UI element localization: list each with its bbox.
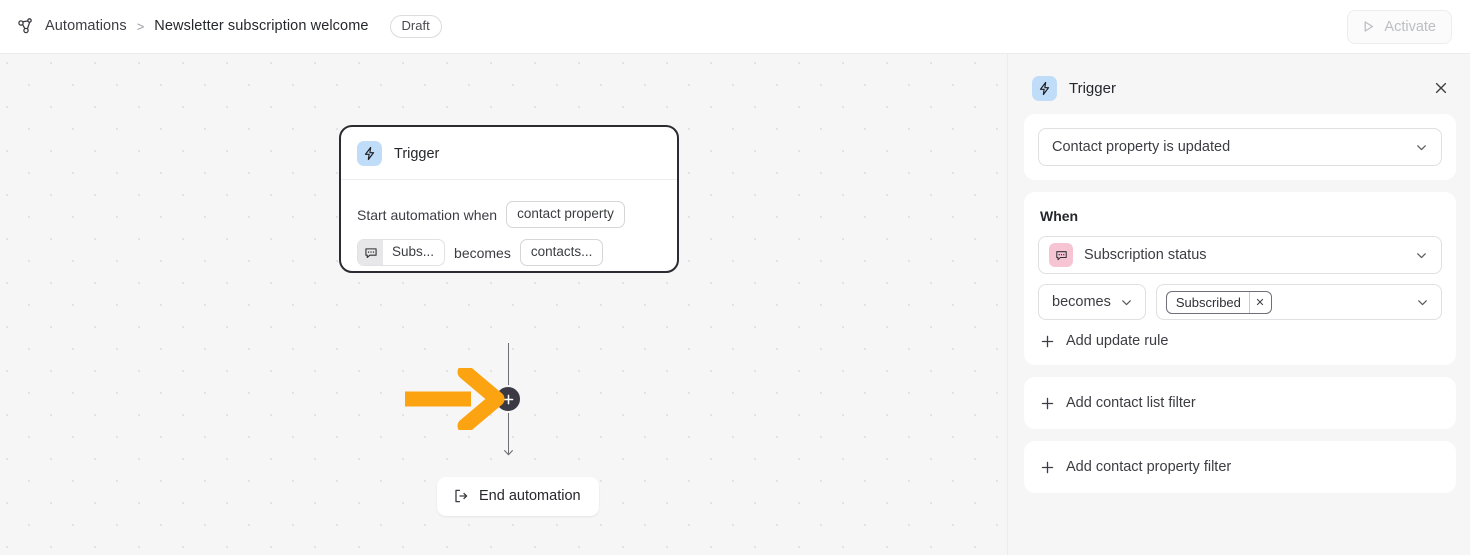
panel-title: Trigger <box>1069 80 1116 97</box>
automation-builder: Automations > Newsletter subscription we… <box>0 0 1470 555</box>
trigger-sentence-prefix: Start automation when <box>357 207 497 223</box>
add-contact-list-filter-button[interactable]: Add contact list filter <box>1024 377 1456 429</box>
lightning-bolt-icon <box>357 141 382 166</box>
remove-token-button[interactable] <box>1249 292 1271 313</box>
trigger-sentence-row-1: Start automation when contact property <box>357 201 661 228</box>
when-card: When Subscription status <box>1024 192 1456 365</box>
lightning-bolt-icon <box>1032 76 1057 101</box>
activate-button-label: Activate <box>1384 19 1436 35</box>
plus-icon <box>502 393 515 406</box>
speech-bubble-icon <box>1049 243 1073 267</box>
close-icon <box>1433 80 1449 96</box>
add-contact-property-filter-card[interactable]: Add contact property filter <box>1024 441 1456 493</box>
end-automation-node[interactable]: End automation <box>437 477 599 516</box>
top-bar: Automations > Newsletter subscription we… <box>0 0 1470 54</box>
play-icon <box>1361 19 1376 34</box>
close-panel-button[interactable] <box>1428 75 1454 101</box>
when-property-value: Subscription status <box>1084 247 1403 263</box>
breadcrumb-separator: > <box>136 19 146 34</box>
trigger-property-chip[interactable]: Subs... <box>357 239 445 266</box>
add-contact-list-filter-card[interactable]: Add contact list filter <box>1024 377 1456 429</box>
breadcrumb: Automations > Newsletter subscription we… <box>16 15 442 38</box>
speech-bubble-icon <box>358 240 383 265</box>
trigger-settings-panel: Trigger Contact property is updated <box>1008 54 1470 555</box>
when-operator-select[interactable]: becomes <box>1038 284 1146 320</box>
add-update-rule-label: Add update rule <box>1066 333 1168 349</box>
add-step-button[interactable] <box>494 385 522 413</box>
trigger-node-title: Trigger <box>394 146 439 162</box>
trigger-sentence-row-2: Subs... becomes contacts... <box>357 239 661 266</box>
trigger-type-value: Contact property is updated <box>1052 139 1414 155</box>
chevron-down-icon <box>1414 248 1429 263</box>
close-icon <box>1255 297 1265 307</box>
add-contact-property-filter-label: Add contact property filter <box>1066 459 1231 475</box>
trigger-node-body: Start automation when contact property <box>357 180 661 266</box>
trigger-event-chip[interactable]: contact property <box>506 201 625 228</box>
trigger-node-header: Trigger <box>357 141 661 179</box>
trigger-operator-text: becomes <box>454 245 511 261</box>
trigger-node[interactable]: Trigger Start automation when contact pr… <box>339 125 679 273</box>
trigger-type-card: Contact property is updated <box>1024 114 1456 180</box>
flow-connector-arrowhead <box>503 446 514 456</box>
add-contact-property-filter-button[interactable]: Add contact property filter <box>1024 441 1456 493</box>
exit-icon <box>453 488 469 504</box>
breadcrumb-automations-link[interactable]: Automations <box>45 18 127 34</box>
value-token: Subscribed <box>1166 291 1272 314</box>
status-badge: Draft <box>390 15 442 38</box>
add-contact-list-filter-label: Add contact list filter <box>1066 395 1196 411</box>
when-rule-row: becomes Subscribed <box>1038 284 1442 320</box>
canvas-panel-divider <box>1007 54 1008 555</box>
workspace: Trigger Start automation when contact pr… <box>0 54 1470 555</box>
automations-graph-icon <box>16 16 36 36</box>
add-update-rule-button[interactable]: Add update rule <box>1038 320 1442 351</box>
plus-icon <box>1040 460 1055 475</box>
plus-icon <box>1040 334 1055 349</box>
chevron-down-icon <box>1119 295 1134 310</box>
chevron-down-icon <box>1415 295 1430 310</box>
when-operator-value: becomes <box>1052 294 1111 310</box>
when-property-select[interactable]: Subscription status <box>1038 236 1442 274</box>
when-values-select[interactable]: Subscribed <box>1156 284 1442 320</box>
flow-canvas[interactable]: Trigger Start automation when contact pr… <box>0 54 1008 555</box>
trigger-type-select[interactable]: Contact property is updated <box>1038 128 1442 166</box>
activate-button[interactable]: Activate <box>1347 10 1452 44</box>
plus-icon <box>1040 396 1055 411</box>
chevron-down-icon <box>1414 140 1429 155</box>
end-automation-label: End automation <box>479 488 581 504</box>
trigger-value-chip[interactable]: contacts... <box>520 239 604 266</box>
when-section-label: When <box>1038 206 1442 236</box>
value-token-label: Subscribed <box>1167 292 1249 313</box>
panel-header: Trigger <box>1024 66 1456 114</box>
breadcrumb-current-title: Newsletter subscription welcome <box>154 18 368 34</box>
trigger-property-chip-label: Subs... <box>383 240 444 265</box>
